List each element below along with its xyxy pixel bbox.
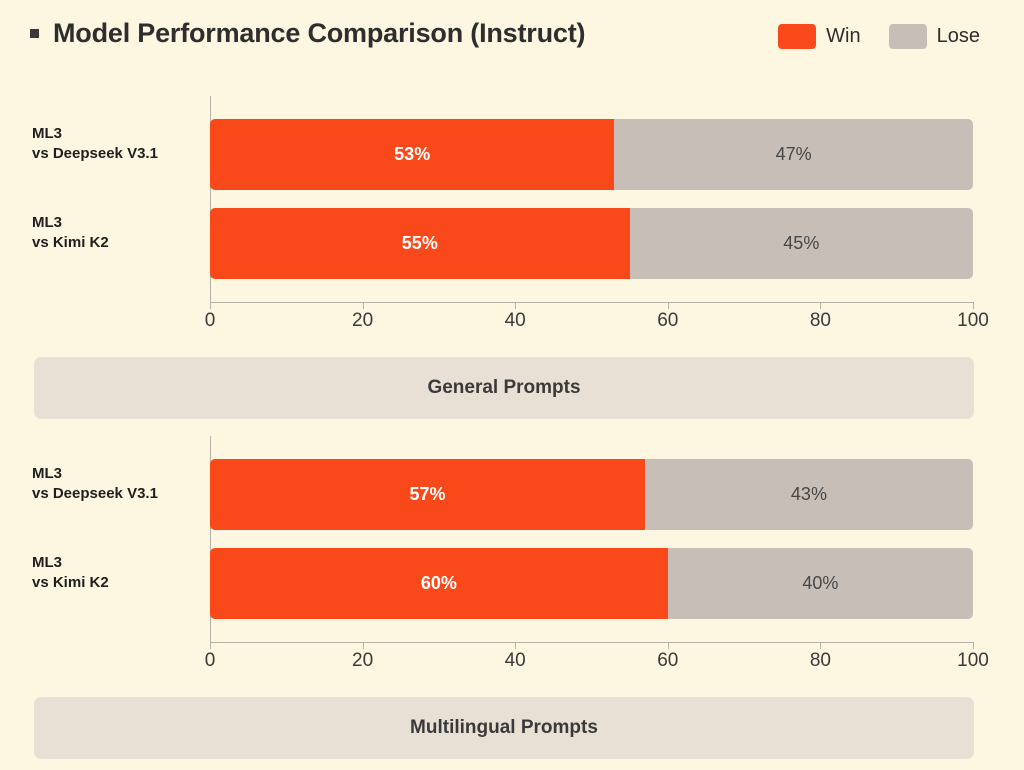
bar-segment-win[interactable]: 57% (210, 459, 645, 530)
category-label-row-1: ML3 vs Kimi K2 (32, 553, 109, 593)
section-banner-multilingual-prompts[interactable]: Multilingual Prompts (34, 697, 974, 759)
bar-segment-lose[interactable]: 43% (645, 459, 973, 530)
legend-label-lose: Lose (937, 25, 980, 48)
stacked-bar-row-1[interactable]: 55% 45% (210, 208, 973, 279)
category-label-row-0: ML3 vs Deepseek V3.1 (32, 124, 158, 164)
bar-segment-lose[interactable]: 45% (630, 208, 973, 279)
x-tick-label-60: 60 (657, 310, 678, 332)
chart-panel-general-prompts: 0 20 40 60 80 100 ML3 vs Deepseek V3.1 5… (0, 88, 1024, 418)
x-tick-label-100: 100 (957, 650, 989, 672)
x-tick-60 (668, 302, 669, 309)
section-banner-label: Multilingual Prompts (410, 717, 598, 739)
x-tick-40 (515, 302, 516, 309)
legend-swatch-lose-icon (889, 24, 927, 49)
section-banner-general-prompts[interactable]: General Prompts (34, 357, 974, 419)
legend-swatch-win-icon (778, 24, 816, 49)
plot-area-general: 0 20 40 60 80 100 ML3 vs Deepseek V3.1 5… (0, 88, 1024, 318)
bar-segment-win[interactable]: 53% (210, 119, 614, 190)
x-tick-40 (515, 642, 516, 649)
category-label-line-2: vs Deepseek V3.1 (32, 144, 158, 164)
bar-segment-win[interactable]: 55% (210, 208, 630, 279)
chart-header: Model Performance Comparison (Instruct) … (0, 0, 1024, 78)
category-label-row-1: ML3 vs Kimi K2 (32, 213, 109, 253)
bar-segment-lose[interactable]: 40% (668, 548, 973, 619)
category-label-line-2: vs Kimi K2 (32, 233, 109, 253)
stacked-bar-row-0[interactable]: 57% 43% (210, 459, 973, 530)
x-tick-label-0: 0 (205, 310, 216, 332)
stacked-bar-row-0[interactable]: 53% 47% (210, 119, 973, 190)
legend-label-win: Win (826, 25, 860, 48)
square-bullet-icon (30, 29, 39, 38)
page-title: Model Performance Comparison (Instruct) (53, 18, 585, 49)
x-tick-label-40: 40 (505, 650, 526, 672)
x-tick-label-60: 60 (657, 650, 678, 672)
x-tick-80 (820, 642, 821, 649)
plot-area-multilingual: 0 20 40 60 80 100 ML3 vs Deepseek V3.1 5… (0, 428, 1024, 658)
x-axis-line (210, 642, 973, 643)
x-axis-line (210, 302, 973, 303)
category-label-line-2: vs Deepseek V3.1 (32, 484, 158, 504)
x-tick-0 (210, 302, 211, 309)
x-tick-label-20: 20 (352, 650, 373, 672)
bar-segment-win[interactable]: 60% (210, 548, 668, 619)
x-tick-20 (363, 302, 364, 309)
legend-item-lose[interactable]: Lose (889, 24, 980, 49)
x-tick-0 (210, 642, 211, 649)
x-tick-60 (668, 642, 669, 649)
x-tick-label-80: 80 (810, 310, 831, 332)
x-tick-label-40: 40 (505, 310, 526, 332)
x-tick-100 (973, 302, 974, 309)
chart-panel-multilingual-prompts: 0 20 40 60 80 100 ML3 vs Deepseek V3.1 5… (0, 428, 1024, 770)
x-tick-label-20: 20 (352, 310, 373, 332)
x-tick-20 (363, 642, 364, 649)
x-tick-80 (820, 302, 821, 309)
category-label-row-0: ML3 vs Deepseek V3.1 (32, 464, 158, 504)
chart-legend: Win Lose (778, 24, 980, 49)
x-tick-100 (973, 642, 974, 649)
category-label-line-1: ML3 (32, 213, 109, 233)
bar-segment-lose[interactable]: 47% (614, 119, 973, 190)
category-label-line-1: ML3 (32, 553, 109, 573)
title-group: Model Performance Comparison (Instruct) (30, 18, 585, 49)
section-banner-label: General Prompts (427, 377, 580, 399)
category-label-line-1: ML3 (32, 464, 158, 484)
category-label-line-1: ML3 (32, 124, 158, 144)
x-tick-label-0: 0 (205, 650, 216, 672)
category-label-line-2: vs Kimi K2 (32, 573, 109, 593)
legend-item-win[interactable]: Win (778, 24, 860, 49)
stacked-bar-row-1[interactable]: 60% 40% (210, 548, 973, 619)
x-tick-label-80: 80 (810, 650, 831, 672)
x-tick-label-100: 100 (957, 310, 989, 332)
